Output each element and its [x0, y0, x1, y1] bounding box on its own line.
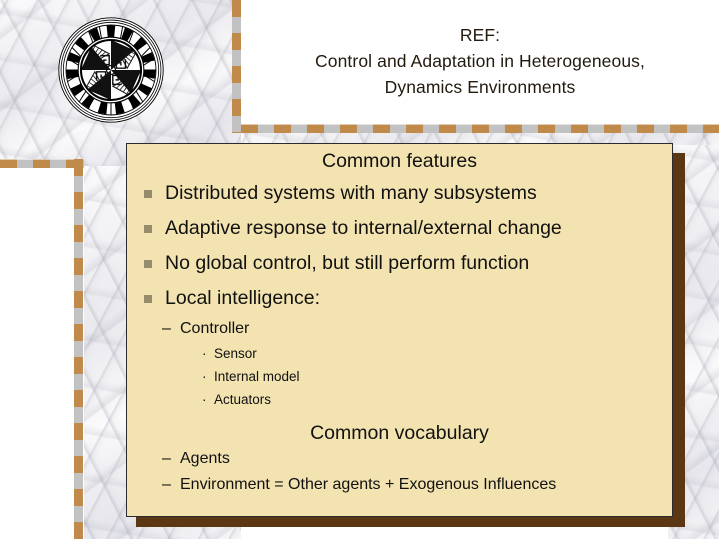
sub-bullet-text: Controller: [180, 320, 249, 337]
circular-mosaic-medallion-logo: [57, 16, 165, 124]
dash-bullet-icon: –: [162, 446, 171, 472]
square-bullet-icon: [144, 295, 152, 303]
content-box: Common features Distributed systems with…: [126, 143, 673, 517]
title-line-1: REF:: [245, 22, 715, 48]
heading-common-vocabulary: Common vocabulary: [127, 420, 672, 446]
list-item: Adaptive response to internal/external c…: [135, 211, 672, 246]
vocabulary-text: Agents: [180, 450, 230, 467]
title-line-2: Control and Adaptation in Heterogeneous,: [245, 48, 715, 74]
list-item: No global control, but still perform fun…: [135, 246, 672, 281]
list-item: – Agents: [162, 446, 672, 472]
square-bullet-icon: [144, 260, 152, 268]
slide-canvas: REF: Control and Adaptation in Heterogen…: [0, 0, 719, 539]
left-side-panel: [0, 168, 74, 539]
bullet-text: Distributed systems with many subsystems: [165, 182, 537, 204]
bullet-text: Adaptive response to internal/external c…: [165, 217, 562, 239]
sub-sub-bullet-text: Sensor: [214, 346, 257, 361]
list-item: · Internal model: [202, 365, 672, 388]
dot-bullet-icon: ·: [202, 342, 207, 365]
dash-bullet-icon: –: [162, 472, 171, 498]
sub-sub-bullet-text: Internal model: [214, 369, 300, 384]
bullet-text: Local intelligence:: [165, 287, 320, 309]
heading-common-features: Common features: [127, 148, 672, 174]
square-bullet-icon: [144, 190, 152, 198]
dot-bullet-icon: ·: [202, 365, 207, 388]
list-item: · Actuators: [202, 388, 672, 411]
list-item: Local intelligence:: [135, 281, 672, 316]
left-panel-top-band: [0, 159, 84, 168]
controller-sublist: – Controller: [127, 316, 672, 342]
list-item: – Controller: [162, 316, 672, 342]
list-item: · Sensor: [202, 342, 672, 365]
title-line-3: Dynamics Environments: [245, 74, 715, 100]
page-title: REF: Control and Adaptation in Heterogen…: [245, 22, 715, 100]
list-item: – Environment = Other agents + Exogenous…: [162, 472, 672, 498]
controller-components-list: · Sensor · Internal model · Actuators: [127, 342, 672, 411]
header-left-band: [232, 0, 241, 133]
dash-bullet-icon: –: [162, 316, 171, 342]
bullet-text: No global control, but still perform fun…: [165, 252, 529, 274]
list-item: Distributed systems with many subsystems: [135, 176, 672, 211]
vocabulary-text: Environment = Other agents + Exogenous I…: [180, 476, 556, 493]
left-panel-right-band: [74, 159, 83, 539]
dot-bullet-icon: ·: [202, 388, 207, 411]
vocabulary-list: – Agents – Environment = Other agents + …: [127, 446, 672, 498]
sub-sub-bullet-text: Actuators: [214, 392, 271, 407]
header-bottom-band: [241, 124, 719, 133]
common-features-list: Distributed systems with many subsystems…: [127, 176, 672, 316]
square-bullet-icon: [144, 225, 152, 233]
